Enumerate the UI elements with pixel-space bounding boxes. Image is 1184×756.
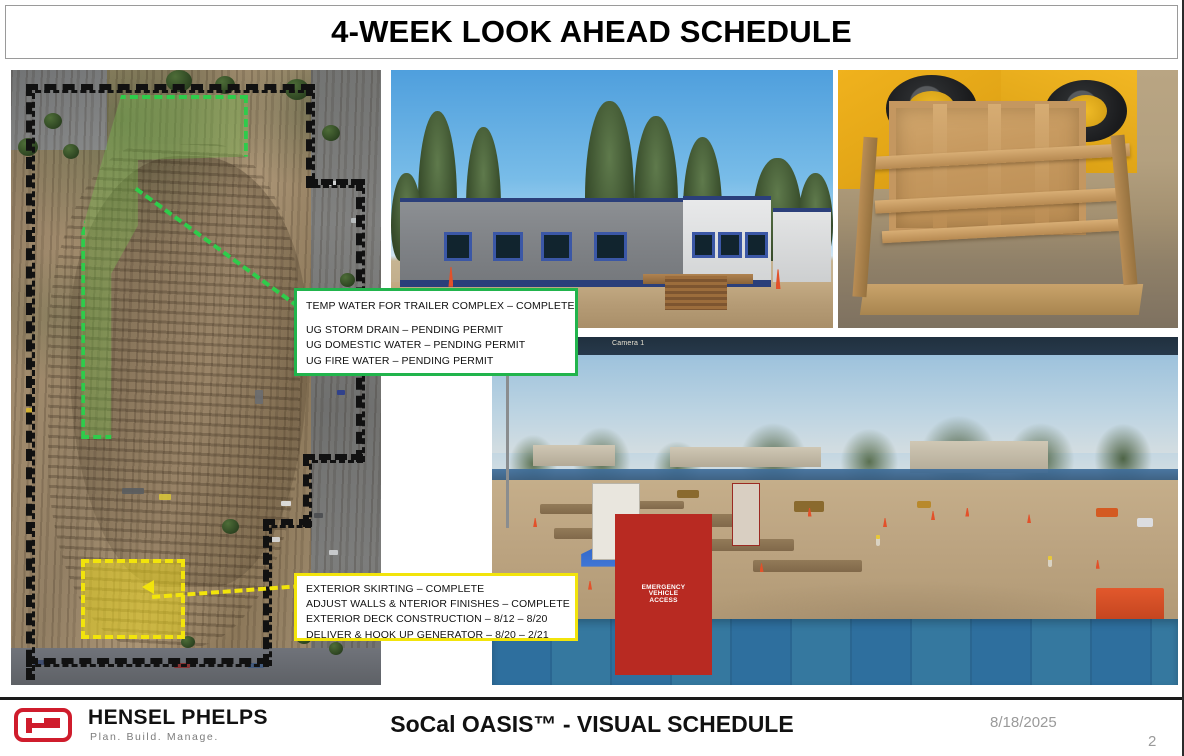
callout-green-spacer — [306, 314, 566, 323]
panorama-worker — [1048, 556, 1052, 567]
site-boundary-edge — [26, 84, 35, 680]
aerial-truck — [122, 488, 144, 494]
camera-label: Camera 1 — [612, 340, 644, 347]
panorama-screened-fence — [492, 619, 1178, 685]
callout-green-line-4: UG FIRE WATER – PENDING PERMIT — [306, 354, 566, 369]
aerial-vehicle — [314, 513, 323, 518]
callout-green-line-3: UG DOMESTIC WATER – PENDING PERMIT — [306, 338, 566, 353]
hp-monogram-icon — [26, 718, 60, 733]
panorama-worker — [876, 535, 880, 546]
site-boundary-edge — [26, 658, 270, 667]
aerial-tree — [222, 519, 239, 534]
trailer-window — [692, 232, 716, 259]
panorama-excavator — [1096, 508, 1118, 517]
crate-slat — [988, 104, 1002, 233]
trailer-window — [594, 232, 627, 261]
site-boundary-edge — [303, 454, 363, 463]
panorama-equipment — [917, 501, 931, 508]
emergency-vehicle-access-sign: EMERGENCY VEHICLE ACCESS — [615, 514, 711, 674]
footer-date: 8/18/2025 — [990, 714, 1057, 731]
aerial-vehicle — [255, 390, 263, 404]
panorama-building — [533, 445, 615, 466]
site-boundary-edge — [303, 454, 312, 528]
site-panorama-photo[interactable]: EMERGENCY VEHICLE ACCESS 94° F Camera 1 — [492, 337, 1178, 685]
trailer-window — [541, 232, 571, 261]
pallet-deck — [860, 284, 1143, 315]
aerial-tree — [63, 144, 79, 159]
panorama-excavator — [677, 490, 699, 498]
panorama-orange-barrier — [1096, 588, 1165, 623]
slide-root: 4-WEEK LOOK AHEAD SCHEDULE — [0, 0, 1184, 756]
company-tagline: Plan. Build. Manage. — [90, 731, 219, 743]
site-boundary-edge — [306, 179, 364, 188]
callout-green-line-2: UG STORM DRAIN – PENDING PERMIT — [306, 323, 566, 338]
yellow-arrowhead-icon — [142, 580, 154, 594]
trailer-unit-end — [773, 208, 830, 282]
callout-utilities-green[interactable]: TEMP WATER FOR TRAILER COMPLEX – COMPLET… — [294, 288, 578, 376]
aerial-vehicle — [337, 390, 345, 395]
aerial-truck — [159, 494, 171, 500]
trailer-window — [444, 232, 472, 261]
company-name: HENSEL PHELPS — [88, 706, 268, 730]
aerial-vehicle — [281, 501, 291, 506]
crate-delivery-photo[interactable] — [838, 70, 1178, 328]
callout-yellow-line-4: DELIVER & HOOK UP GENERATOR – 8/20 – 2/2… — [306, 628, 566, 643]
site-boundary-edge — [263, 519, 272, 666]
site-boundary-edge — [26, 84, 313, 93]
yellow-work-zone-overlay — [81, 559, 185, 639]
trailer-window — [718, 232, 742, 259]
trailer-stairs — [665, 276, 727, 310]
panorama-light-pole — [506, 361, 509, 528]
hensel-phelps-logo-icon — [14, 708, 72, 742]
panorama-building — [910, 441, 1047, 472]
callout-green-line-1: TEMP WATER FOR TRAILER COMPLEX – COMPLET… — [306, 299, 566, 314]
slide-footer: SoCal OASIS™ - VISUAL SCHEDULE HENSEL PH… — [0, 700, 1184, 756]
callout-yellow-line-2: ADJUST WALLS & NTERIOR FINISHES – COMPLE… — [306, 597, 566, 612]
camera-overlay-bar — [492, 337, 1178, 355]
callout-trailer-yellow[interactable]: EXTERIOR SKIRTING – COMPLETE ADJUST WALL… — [294, 573, 578, 641]
page-title: 4-WEEK LOOK AHEAD SCHEDULE — [331, 14, 852, 50]
panorama-truck — [1137, 518, 1153, 527]
crate-slat — [1035, 104, 1049, 233]
panorama-trench — [753, 560, 863, 572]
footer-page-number: 2 — [1148, 733, 1156, 750]
crate-slat — [933, 104, 947, 233]
callout-yellow-line-3: EXTERIOR DECK CONSTRUCTION – 8/12 – 8/20 — [306, 612, 566, 627]
callout-yellow-line-1: EXTERIOR SKIRTING – COMPLETE — [306, 582, 566, 597]
trailer-window — [493, 232, 523, 261]
slide-title-box: 4-WEEK LOOK AHEAD SCHEDULE — [5, 5, 1178, 59]
site-boundary-edge — [306, 84, 315, 188]
sign-line-3: ACCESS — [649, 598, 677, 605]
trailer-window — [745, 232, 769, 259]
panorama-fence-placard — [732, 483, 759, 546]
aerial-vehicle — [329, 550, 338, 555]
panorama-building — [670, 447, 821, 468]
